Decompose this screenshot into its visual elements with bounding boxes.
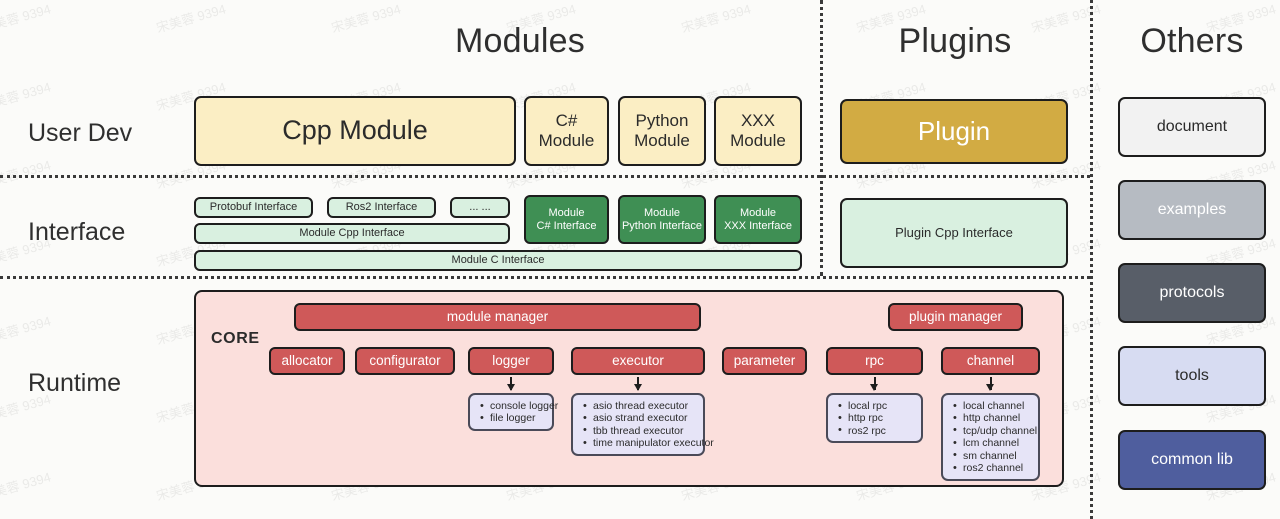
plugin-box[interactable]: Plugin (840, 99, 1068, 164)
runtime-box-executor[interactable]: executor (571, 347, 705, 375)
others-box-document[interactable]: document (1118, 97, 1266, 157)
module-box-python[interactable]: Python Module (618, 96, 706, 166)
interface-box-module-xxx[interactable]: Module XXX Interface (714, 195, 802, 244)
watermark: 宋美蓉 9394 (0, 0, 53, 36)
runtime-box-rpc[interactable]: rpc (826, 347, 923, 375)
module-box-xxx[interactable]: XXX Module (714, 96, 802, 166)
arrow-down-icon (874, 377, 876, 390)
diagram-canvas: 宋美蓉 9394宋美蓉 9394宋美蓉 9394宋美蓉 9394宋美蓉 9394… (0, 0, 1280, 519)
list-item: time manipulator executor (593, 437, 697, 449)
row-label-user-dev: User Dev (28, 119, 132, 148)
divider-plugins-others (1090, 0, 1093, 519)
others-box-tools[interactable]: tools (1118, 346, 1266, 406)
interface-box-module-c[interactable]: Module C Interface (194, 250, 802, 271)
watermark: 宋美蓉 9394 (0, 311, 53, 349)
interface-box-plugin-cpp[interactable]: Plugin Cpp Interface (840, 198, 1068, 268)
watermark: 宋美蓉 9394 (679, 0, 753, 36)
list-item: file logger (490, 412, 546, 424)
row-label-interface: Interface (28, 218, 125, 247)
runtime-box-logger[interactable]: logger (468, 347, 554, 375)
runtime-box-plugin-manager[interactable]: plugin manager (888, 303, 1023, 331)
list-item: http channel (963, 412, 1032, 424)
watermark: 宋美蓉 9394 (0, 155, 53, 193)
arrow-down-icon (510, 377, 512, 390)
runtime-box-channel[interactable]: channel (941, 347, 1040, 375)
divider-userdev-interface (0, 175, 1090, 178)
arrow-down-icon (637, 377, 639, 390)
list-item: http rpc (848, 412, 915, 424)
interface-box-module-csharp[interactable]: Module C# Interface (524, 195, 609, 244)
runtime-box-configurator[interactable]: configurator (355, 347, 455, 375)
interface-box-ros2[interactable]: Ros2 Interface (327, 197, 436, 218)
runtime-box-module-manager[interactable]: module manager (294, 303, 701, 331)
list-item: lcm channel (963, 437, 1032, 449)
interface-box-more[interactable]: ... ... (450, 197, 510, 218)
watermark: 宋美蓉 9394 (0, 77, 53, 115)
list-item: asio strand executor (593, 412, 697, 424)
interface-box-module-cpp[interactable]: Module Cpp Interface (194, 223, 510, 244)
others-box-examples[interactable]: examples (1118, 180, 1266, 240)
list-item: ros2 channel (963, 462, 1032, 474)
runtime-list-rpc: local rpchttp rpcros2 rpc (826, 393, 923, 443)
arrow-down-icon (990, 377, 992, 390)
others-box-protocols[interactable]: protocols (1118, 263, 1266, 323)
row-label-runtime: Runtime (28, 369, 121, 398)
interface-box-protobuf[interactable]: Protobuf Interface (194, 197, 313, 218)
module-box-csharp[interactable]: C# Module (524, 96, 609, 166)
column-title-others: Others (1042, 22, 1280, 61)
list-item: tbb thread executor (593, 425, 697, 437)
core-label: CORE (211, 330, 260, 348)
column-title-modules: Modules (370, 22, 670, 61)
others-box-common-lib[interactable]: common lib (1118, 430, 1266, 490)
watermark: 宋美蓉 9394 (154, 0, 228, 36)
interface-box-module-python[interactable]: Module Python Interface (618, 195, 706, 244)
watermark: 宋美蓉 9394 (0, 467, 53, 505)
runtime-box-parameter[interactable]: parameter (722, 347, 807, 375)
list-item: console logger (490, 400, 546, 412)
list-item: ros2 rpc (848, 425, 915, 437)
runtime-list-channel: local channelhttp channeltcp/udp channel… (941, 393, 1040, 481)
runtime-box-allocator[interactable]: allocator (269, 347, 345, 375)
runtime-list-logger: console loggerfile logger (468, 393, 554, 431)
list-item: asio thread executor (593, 400, 697, 412)
list-item: local rpc (848, 400, 915, 412)
divider-interface-runtime (0, 276, 1090, 279)
list-item: tcp/udp channel (963, 425, 1032, 437)
module-box-cpp[interactable]: Cpp Module (194, 96, 516, 166)
list-item: sm channel (963, 450, 1032, 462)
list-item: local channel (963, 400, 1032, 412)
runtime-list-executor: asio thread executorasio strand executor… (571, 393, 705, 456)
